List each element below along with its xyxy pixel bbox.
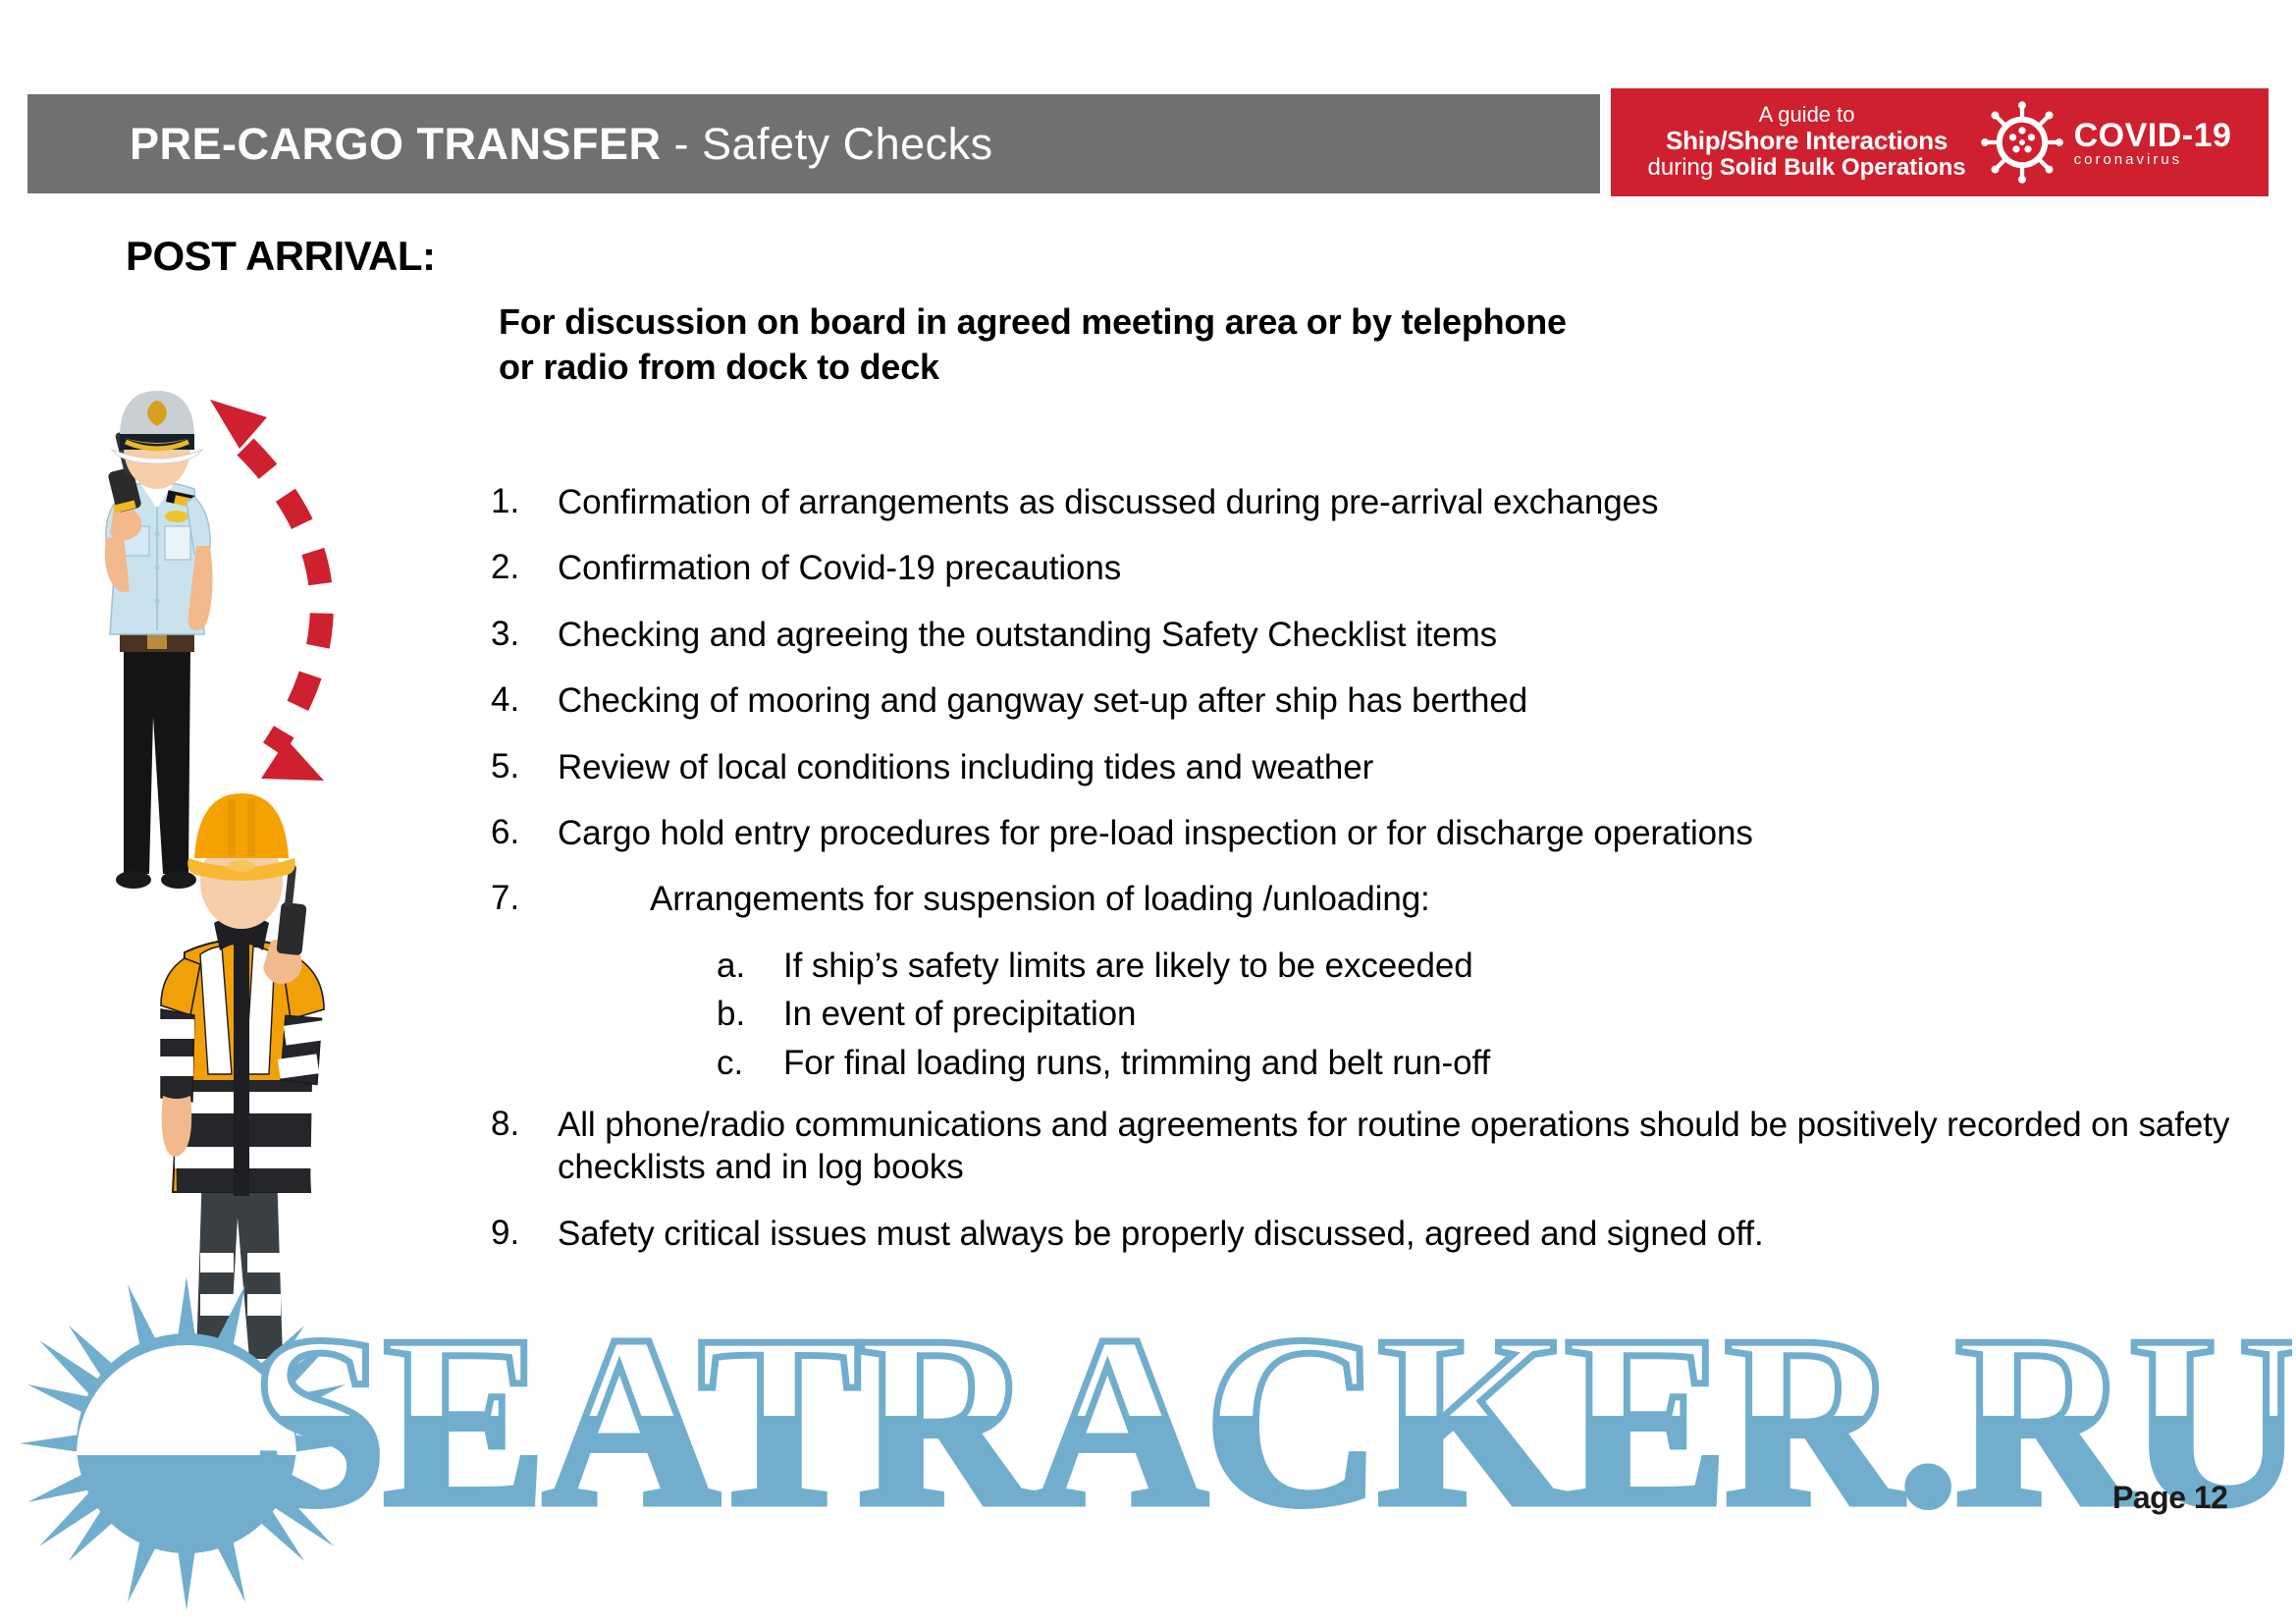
list-item: 3. Checking and agreeing the outstanding…	[491, 614, 2248, 656]
intro-paragraph: For discussion on board in agreed meetin…	[499, 299, 2030, 390]
page-title: PRE-CARGO TRANSFER - Safety Checks	[130, 119, 993, 170]
sub-list-item: c. For final loading runs, trimming and …	[491, 1042, 2248, 1084]
list-item: 7. Arrangements for suspension of loadin…	[491, 878, 2248, 920]
list-item: 4. Checking of mooring and gangway set-u…	[491, 679, 2248, 722]
sub-list-item: b. In event of precipitation	[491, 993, 2248, 1035]
list-item-number: 4.	[491, 679, 558, 721]
list-item-text: Confirmation of Covid-19 precautions	[558, 547, 1121, 589]
list-item: 2. Confirmation of Covid-19 precautions	[491, 547, 2248, 589]
list-item-text: Confirmation of arrangements as discusse…	[558, 481, 1658, 523]
page-title-strong: PRE-CARGO TRANSFER	[130, 119, 662, 169]
sub-list-item: a. If ship’s safety limits are likely to…	[491, 945, 2248, 987]
page-number: Page 12	[2112, 1480, 2227, 1516]
page-title-light: Safety Checks	[702, 119, 993, 169]
list-item-number: 3.	[491, 614, 558, 655]
list-item: 8. All phone/radio communications and ag…	[491, 1104, 2248, 1189]
list-item-text: Checking and agreeing the outstanding Sa…	[558, 614, 1497, 656]
intro-line-1: For discussion on board in agreed meetin…	[499, 299, 2030, 345]
list-item-number: 8.	[491, 1104, 558, 1145]
covid-banner-line2: Ship/Shore Interactions	[1648, 127, 1966, 155]
list-item: 5. Review of local conditions including …	[491, 746, 2248, 788]
sub-list-item-text: For final loading runs, trimming and bel…	[783, 1042, 1490, 1084]
list-item-text: Arrangements for suspension of loading /…	[558, 878, 1430, 920]
header-bar: PRE-CARGO TRANSFER - Safety Checks	[27, 94, 1600, 193]
list-item-number: 1.	[491, 481, 558, 522]
sub-list-item-label: c.	[717, 1042, 783, 1084]
list-item-number: 5.	[491, 746, 558, 787]
seatracker-watermark: SEATRACKER.RU	[250, 1311, 2292, 1537]
covid-banner-text: A guide to Ship/Shore Interactions durin…	[1648, 103, 1966, 183]
list-item-number: 7.	[491, 878, 558, 919]
list-item-number: 2.	[491, 547, 558, 588]
sub-list-item-label: a.	[717, 945, 783, 987]
sub-list-item-text: In event of precipitation	[783, 993, 1136, 1035]
covid-banner-line3-bold: Solid Bulk Operations	[1720, 154, 1966, 181]
covid-banner-line3-prefix: during	[1648, 154, 1720, 181]
covid-banner-line1: A guide to	[1648, 103, 1966, 128]
sunburst-logo	[10, 1267, 363, 1620]
list-item-text: All phone/radio communications and agree…	[558, 1104, 2248, 1189]
covid-badge: COVID-19 coronavirus	[1980, 100, 2232, 185]
covid-badge-label: COVID-19 coronavirus	[2074, 119, 2232, 167]
list-item-number: 6.	[491, 812, 558, 853]
list-item: 1. Confirmation of arrangements as discu…	[491, 481, 2248, 523]
list-item-text: Safety critical issues must always be pr…	[558, 1213, 1764, 1255]
sub-list: a. If ship’s safety limits are likely to…	[491, 945, 2248, 1084]
list-item-text: Cargo hold entry procedures for pre-load…	[558, 812, 1753, 854]
list-item-number: 9.	[491, 1213, 558, 1254]
checks-list: 1. Confirmation of arrangements as discu…	[491, 481, 2248, 1278]
page-title-separator: -	[662, 119, 703, 169]
watermark-text: SEATRACKER.RU	[250, 1311, 2292, 1537]
covid-banner-line3: during Solid Bulk Operations	[1648, 155, 1966, 182]
sub-list-item-label: b.	[717, 993, 783, 1035]
covid-badge-subtitle: coronavirus	[2074, 152, 2232, 167]
section-heading: POST ARRIVAL:	[126, 233, 436, 280]
list-item: 6. Cargo hold entry procedures for pre-l…	[491, 812, 2248, 854]
coronavirus-icon	[1980, 100, 2064, 185]
red-dashed-double-arrow	[196, 388, 402, 820]
list-item: 9. Safety critical issues must always be…	[491, 1213, 2248, 1255]
document-page: PRE-CARGO TRANSFER - Safety Checks A gui…	[0, 0, 2296, 1624]
list-item-text: Review of local conditions including tid…	[558, 746, 1373, 788]
sub-list-item-text: If ship’s safety limits are likely to be…	[783, 945, 1473, 987]
covid-badge-title: COVID-19	[2074, 119, 2232, 152]
intro-line-2: or radio from dock to deck	[499, 345, 2030, 390]
list-item-text: Checking of mooring and gangway set-up a…	[558, 679, 1527, 722]
covid-guide-banner: A guide to Ship/Shore Interactions durin…	[1611, 88, 2269, 196]
